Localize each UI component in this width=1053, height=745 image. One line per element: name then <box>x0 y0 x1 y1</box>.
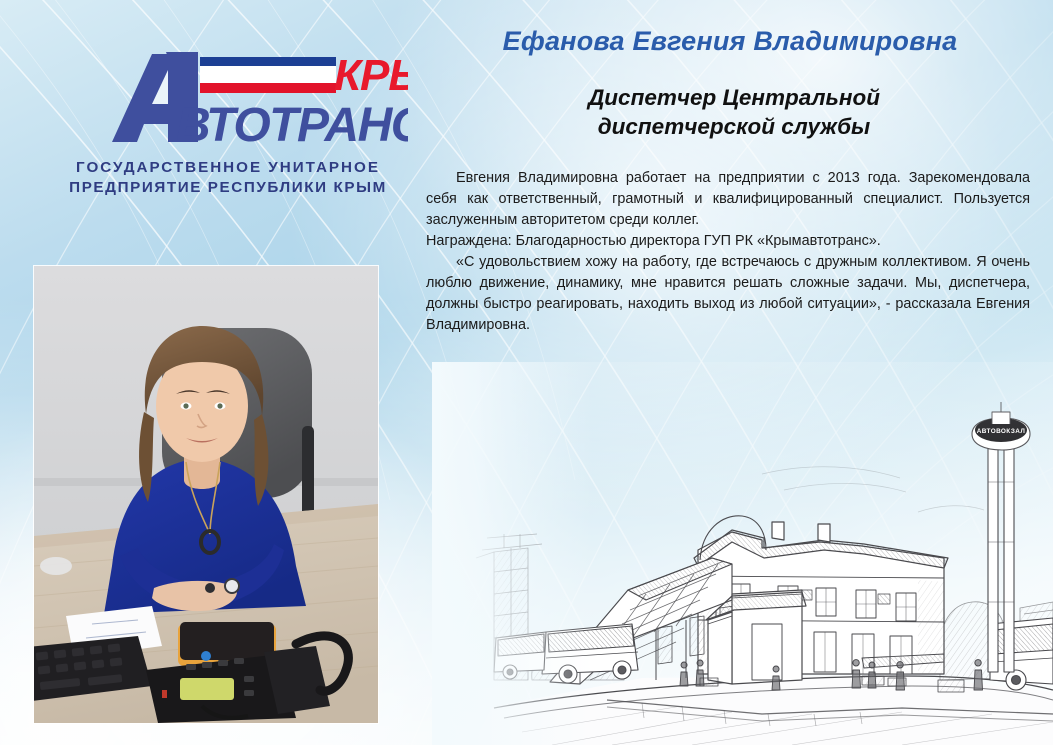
wristwatch <box>225 579 239 593</box>
profile-paragraph-2: Награждена: Благодарностью директора ГУП… <box>426 231 1030 252</box>
employee-photo <box>34 266 378 723</box>
job-title-line-2: диспетчерской службы <box>464 113 1004 142</box>
pylon-sign-text: АВТОВОКЗАЛ <box>977 428 1026 435</box>
logo-org-line-1: ГОСУДАРСТВЕННОЕ УНИТАРНОЕ <box>48 158 408 178</box>
job-title: Диспетчер Центральной диспетчерской служ… <box>464 84 1004 142</box>
logo-organisation-text: ГОСУДАРСТВЕННОЕ УНИТАРНОЕ ПРЕДПРИЯТИЕ РЕ… <box>48 158 408 198</box>
bus-station-sketch: АВТОВОКЗАЛ <box>432 362 1053 745</box>
slide-root: КРЫМ ВТОТРАНС ГОСУДАРСТВЕННОЕ УНИТАРНОЕ … <box>0 0 1053 745</box>
profile-paragraph-3: «С удовольствием хожу на работу, где вст… <box>426 252 1030 336</box>
job-title-line-1: Диспетчер Центральной <box>464 84 1004 113</box>
logo-word-krym: КРЫМ <box>334 51 408 100</box>
logo-lockup: КРЫМ ВТОТРАНС <box>48 46 408 158</box>
crimea-flag-stripes <box>200 57 336 93</box>
profile-body-text: Евгения Владимировна работает на предпри… <box>426 168 1030 336</box>
logo-org-line-2: ПРЕДПРИЯТИЕ РЕСПУБЛИКИ КРЫМ <box>48 178 408 198</box>
person-name: Ефанова Евгения Владимировна <box>424 26 1036 57</box>
profile-paragraph-1: Евгения Владимировна работает на предпри… <box>426 168 1030 231</box>
company-logo: КРЫМ ВТОТРАНС ГОСУДАРСТВЕННОЕ УНИТАРНОЕ … <box>48 46 408 214</box>
logo-word-avtotrans: ВТОТРАНС <box>176 99 408 152</box>
